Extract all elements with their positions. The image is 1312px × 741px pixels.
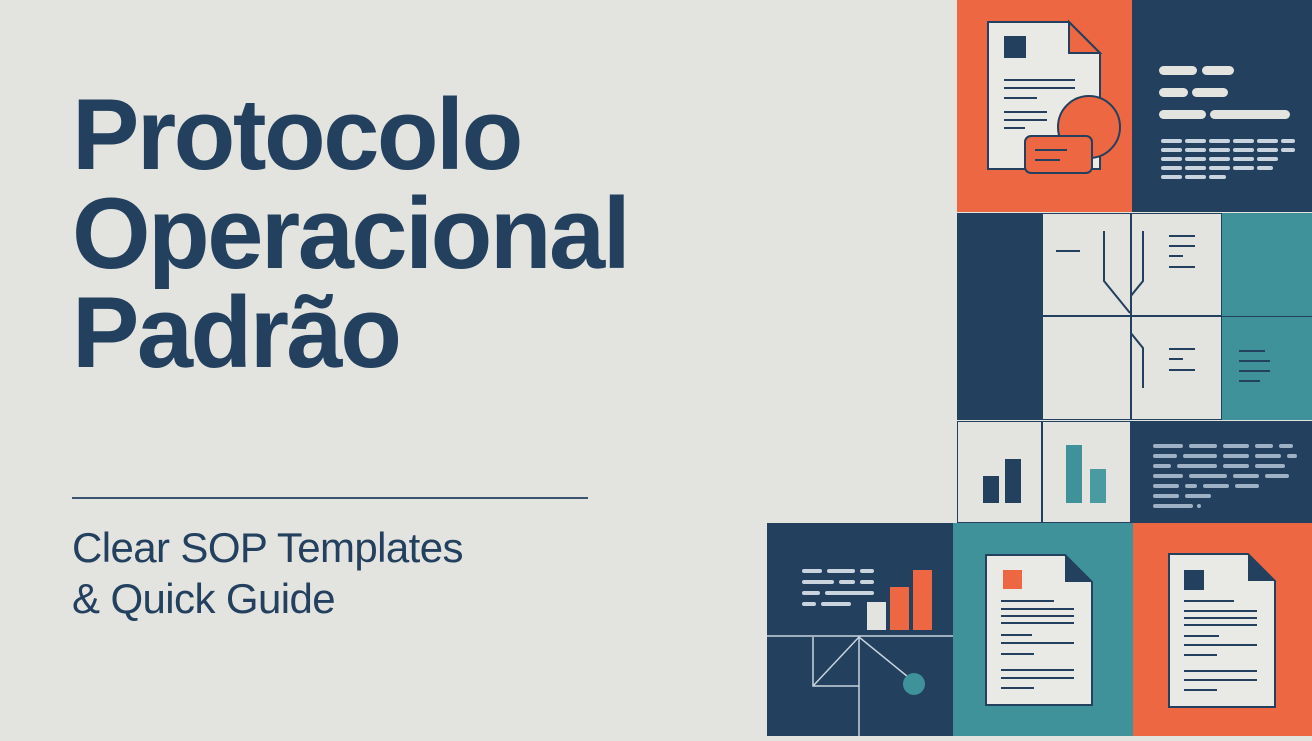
tile-paragraph-navy (1131, 421, 1312, 523)
text-lines-icon (1222, 317, 1312, 421)
flow-list-icon (1131, 213, 1222, 316)
poster-canvas: Protocolo Operacional Padrão Clear SOP T… (0, 0, 1312, 736)
line-chart-icon (767, 523, 953, 736)
page-title: Protocolo Operacional Padrão (72, 86, 902, 383)
tile-dashboard (767, 523, 953, 736)
tile-flow-right-top (1131, 213, 1222, 316)
title-divider (72, 497, 588, 499)
flow-diagram-icon (1042, 213, 1131, 316)
hero-subtitle: Clear SOP Templates & Quick Guide (72, 522, 692, 624)
document-with-stamp-icon (957, 0, 1132, 212)
tile-flow-right-bottom (1131, 316, 1222, 420)
document-icon (1133, 523, 1312, 736)
tile-flow-left-bottom (1042, 316, 1131, 420)
tile-teal-lines (1222, 316, 1312, 420)
tile-flow-left-top (1042, 213, 1131, 316)
tile-doc-stamp (957, 0, 1132, 212)
tile-doc-teal (953, 523, 1133, 736)
flow-list-icon (1131, 316, 1222, 420)
tile-navy-solid (957, 213, 1042, 420)
hero-text-block: Protocolo Operacional Padrão (72, 86, 902, 383)
tile-text-block (1132, 0, 1312, 212)
tile-bar-navy (957, 421, 1042, 523)
document-icon (953, 523, 1133, 736)
tile-bar-teal (1042, 421, 1131, 523)
tile-teal-solid (1222, 213, 1312, 316)
tile-doc-orange (1133, 523, 1312, 736)
